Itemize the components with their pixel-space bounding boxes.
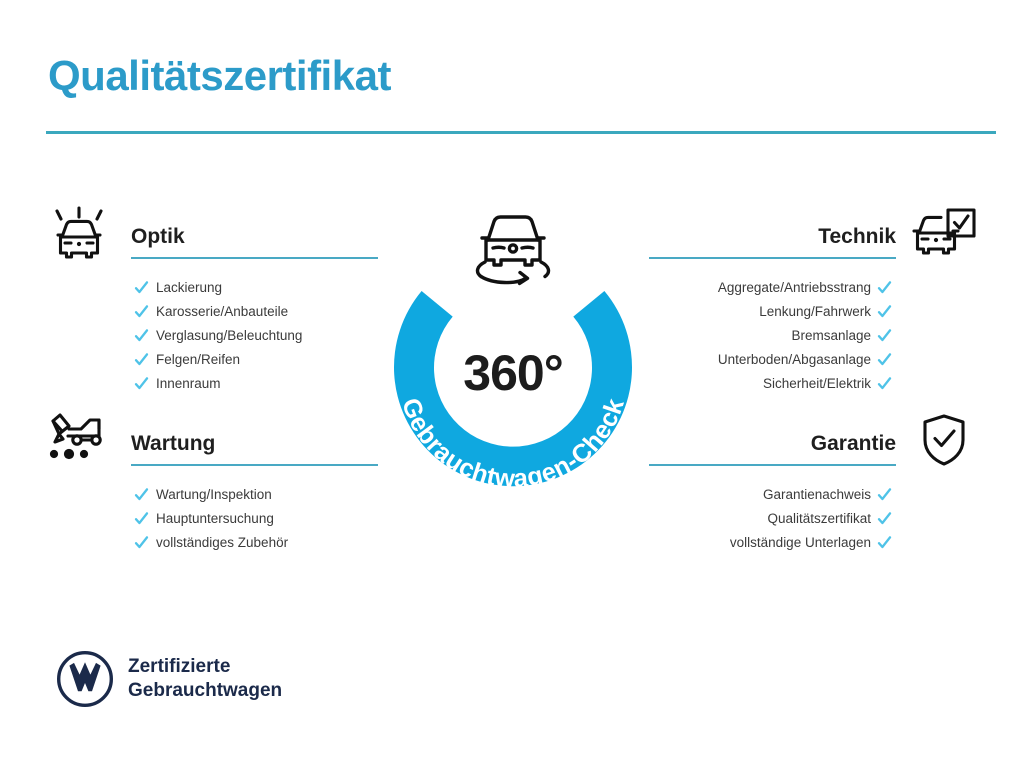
- car-front-checkbox-icon: [908, 205, 980, 263]
- vw-certified-used-cars-logo: Zertifizierte Gebrauchtwagen: [56, 650, 282, 708]
- list-item-label: Qualitätszertifikat: [767, 511, 871, 526]
- 360-gebrauchtwagen-check-badge: Gebrauchtwagen-Check 360°: [376, 196, 650, 501]
- list-item: vollständige Unterlagen: [630, 530, 892, 554]
- section-underline: [649, 257, 896, 259]
- section-list: Wartung/Inspektion Hauptuntersuchung vol…: [44, 482, 394, 554]
- check-mark-icon: [877, 304, 892, 319]
- list-item-label: Felgen/Reifen: [156, 352, 240, 367]
- section-technik: Technik Aggregate/Antriebsstrang Lenkung…: [630, 205, 980, 395]
- check-mark-icon: [877, 328, 892, 343]
- list-item: Lackierung: [134, 275, 394, 299]
- shield-check-icon: [908, 412, 980, 470]
- badge-degrees: 360°: [376, 344, 650, 402]
- list-item: Bremsanlage: [630, 323, 892, 347]
- check-mark-icon: [877, 280, 892, 295]
- list-item: Wartung/Inspektion: [134, 482, 394, 506]
- list-item-label: Sicherheit/Elektrik: [763, 376, 871, 391]
- list-item-label: Wartung/Inspektion: [156, 487, 272, 502]
- check-mark-icon: [134, 511, 149, 526]
- list-item: Qualitätszertifikat: [630, 506, 892, 530]
- check-mark-icon: [877, 511, 892, 526]
- list-item: Innenraum: [134, 371, 394, 395]
- list-item: Garantienachweis: [630, 482, 892, 506]
- list-item-label: vollständiges Zubehör: [156, 535, 288, 550]
- section-header: Optik: [44, 205, 394, 267]
- section-list: Lackierung Karosserie/Anbauteile Verglas…: [44, 275, 394, 395]
- list-item: Verglasung/Beleuchtung: [134, 323, 394, 347]
- list-item-label: Karosserie/Anbauteile: [156, 304, 288, 319]
- car-360-rotate-icon: [463, 196, 563, 296]
- check-mark-icon: [134, 352, 149, 367]
- list-item: Aggregate/Antriebsstrang: [630, 275, 892, 299]
- list-item: Sicherheit/Elektrik: [630, 371, 892, 395]
- list-item: Felgen/Reifen: [134, 347, 394, 371]
- check-mark-icon: [134, 535, 149, 550]
- section-underline: [131, 464, 378, 466]
- list-item-label: Innenraum: [156, 376, 221, 391]
- qualitaetszertifikat-infographic: Qualitätszertifikat Opt: [0, 0, 1024, 768]
- section-title: Garantie: [811, 432, 896, 456]
- list-item-label: Verglasung/Beleuchtung: [156, 328, 302, 343]
- title-divider: [46, 131, 996, 134]
- list-item: Unterboden/Abgasanlage: [630, 347, 892, 371]
- check-mark-icon: [877, 376, 892, 391]
- page-title: Qualitätszertifikat: [48, 52, 391, 100]
- section-garantie: Garantie Garantienachweis Qualitätszerti…: [630, 412, 980, 554]
- section-header: Garantie: [630, 412, 980, 474]
- check-mark-icon: [134, 376, 149, 391]
- list-item-label: Unterboden/Abgasanlage: [718, 352, 871, 367]
- section-optik: Optik Lackierung Karosserie/Anbauteile V…: [44, 205, 394, 395]
- list-item-label: Lackierung: [156, 280, 222, 295]
- list-item-label: Bremsanlage: [791, 328, 871, 343]
- vw-logo-line2: Gebrauchtwagen: [128, 679, 282, 703]
- vw-logo-icon: [56, 650, 114, 708]
- list-item: Karosserie/Anbauteile: [134, 299, 394, 323]
- section-list: Garantienachweis Qualitätszertifikat vol…: [630, 482, 980, 554]
- check-mark-icon: [134, 487, 149, 502]
- section-title: Technik: [818, 225, 896, 249]
- section-header: Wartung: [44, 412, 394, 474]
- list-item: Hauptuntersuchung: [134, 506, 394, 530]
- list-item-label: vollständige Unterlagen: [730, 535, 871, 550]
- pen-car-service-icon: [44, 412, 116, 470]
- check-mark-icon: [134, 304, 149, 319]
- list-item: Lenkung/Fahrwerk: [630, 299, 892, 323]
- list-item-label: Aggregate/Antriebsstrang: [718, 280, 871, 295]
- section-title: Wartung: [131, 432, 215, 456]
- list-item-label: Hauptuntersuchung: [156, 511, 274, 526]
- section-underline: [649, 464, 896, 466]
- list-item-label: Garantienachweis: [763, 487, 871, 502]
- check-mark-icon: [877, 487, 892, 502]
- check-mark-icon: [877, 352, 892, 367]
- list-item-label: Lenkung/Fahrwerk: [759, 304, 871, 319]
- list-item: vollständiges Zubehör: [134, 530, 394, 554]
- check-mark-icon: [134, 328, 149, 343]
- section-underline: [131, 257, 378, 259]
- vw-logo-text: Zertifizierte Gebrauchtwagen: [128, 655, 282, 703]
- section-wartung: Wartung Wartung/Inspektion Hauptuntersuc…: [44, 412, 394, 554]
- vw-logo-line1: Zertifizierte: [128, 655, 282, 679]
- car-front-shine-icon: [44, 205, 116, 263]
- check-mark-icon: [134, 280, 149, 295]
- section-list: Aggregate/Antriebsstrang Lenkung/Fahrwer…: [630, 275, 980, 395]
- section-header: Technik: [630, 205, 980, 267]
- check-mark-icon: [877, 535, 892, 550]
- section-title: Optik: [131, 225, 185, 249]
